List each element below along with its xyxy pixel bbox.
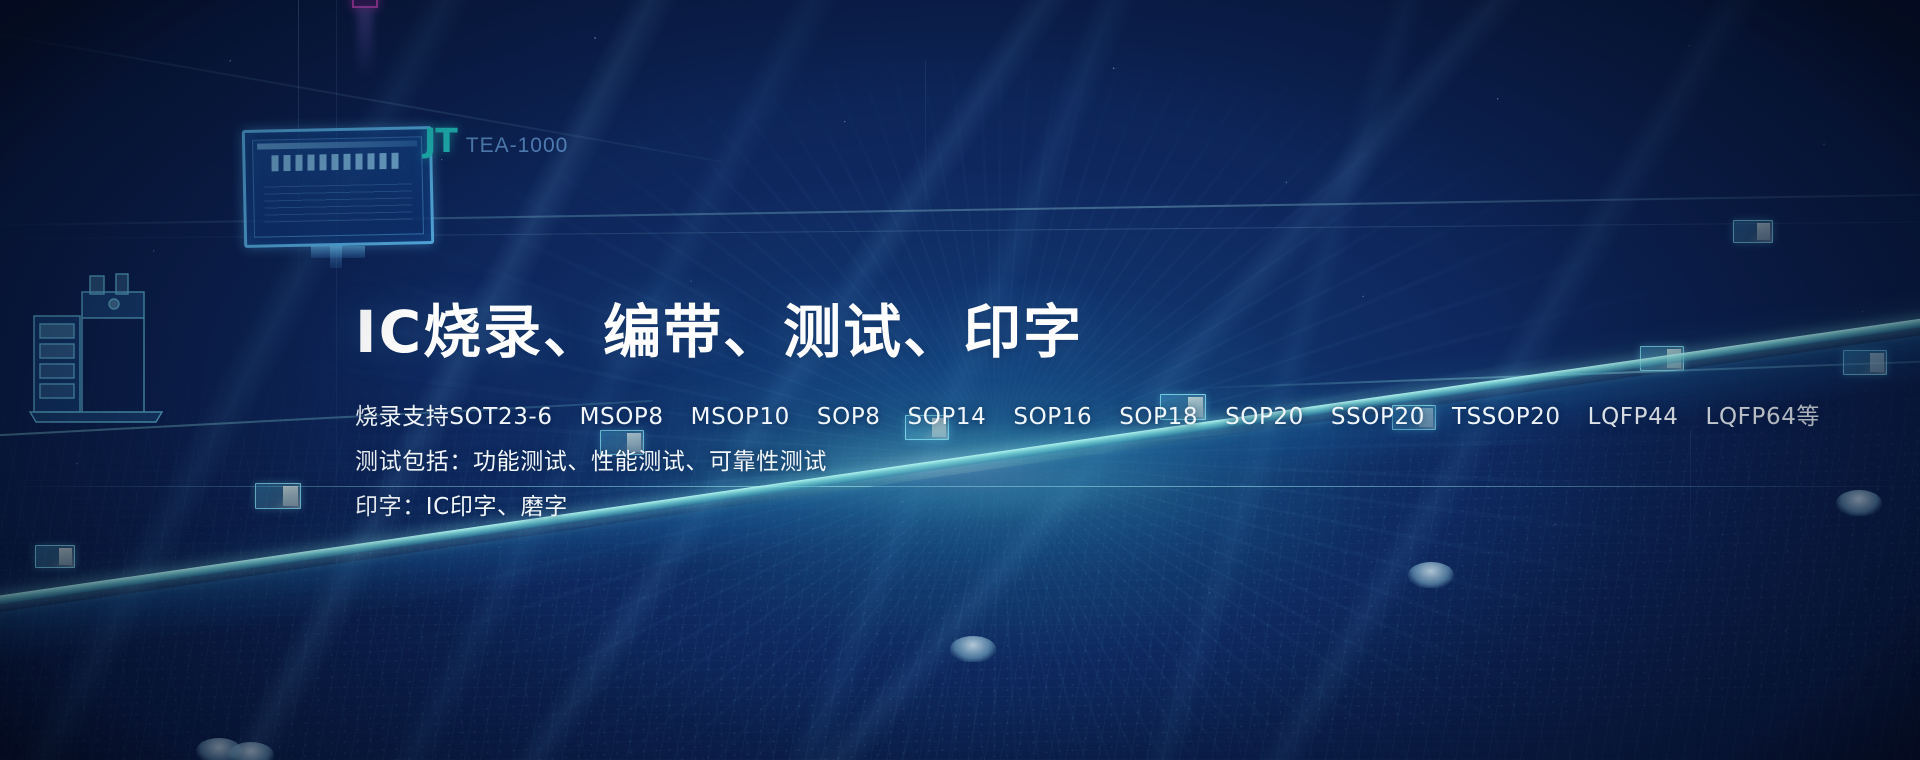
rail-support-foot-decoration (1408, 562, 1454, 588)
burn-in-prefix-label: 烧录支持 (355, 404, 449, 430)
package-sop18: SOP18 (1119, 395, 1198, 440)
monitor-data-rows-decoration (264, 179, 413, 222)
chip-tray-glyph (600, 430, 644, 455)
pillar-line-decoration (925, 60, 926, 260)
pillar-line-decoration (1690, 430, 1691, 610)
magenta-marker-glow-decoration (357, 8, 373, 78)
chip-tray-glyph (1733, 220, 1773, 243)
perspective-light-rays-decoration (0, 0, 1920, 760)
monitor-chip-cells-decoration (271, 153, 403, 172)
monitor-titlebar-decoration (257, 140, 417, 149)
particle-field-decoration (0, 0, 1920, 760)
service-detail-lines: 烧录支持SOT23-6MSOP8MSOP10SOP8SOP14SOP16SOP1… (355, 395, 1645, 530)
chip-tray-glyph (1843, 350, 1887, 375)
package-tssop20: TSSOP20 (1452, 395, 1561, 440)
handler-machine-svg (20, 270, 180, 470)
secondary-rail-decoration (0, 400, 652, 438)
dot-grid-floor-decoration (0, 304, 1920, 760)
vignette-overlay-decoration (0, 0, 1920, 760)
marking-service-line: 印字：IC印字、磨字 (355, 485, 1645, 530)
magenta-status-marker-decoration (352, 0, 378, 8)
jt-brand-mark: JT TEA-1000 (424, 121, 568, 160)
package-msop10: MSOP10 (691, 395, 790, 440)
rail-support-foot-decoration (196, 738, 242, 760)
chip-tray-glyph (35, 545, 75, 568)
upper-left-beam-decoration (0, 21, 724, 163)
chip-tray-glyph (1392, 405, 1436, 430)
package-sop8: SOP8 (817, 395, 881, 440)
package-sop14: SOP14 (908, 395, 987, 440)
chip-tray-glyph (1160, 394, 1206, 420)
package-sop20: SOP20 (1225, 395, 1304, 440)
handler-machine-illustration (20, 270, 180, 470)
testing-scope-line: 测试包括：功能测试、性能测试、可靠性测试 (355, 440, 1645, 485)
center-light-glow-decoration (580, 321, 1340, 621)
monitor-screen (252, 136, 424, 238)
chip-tray-glyph (905, 415, 949, 440)
right-rail-beam-decoration (1191, 357, 1920, 390)
page-title: IC烧录、编带、测试、印字 (355, 300, 1645, 365)
chip-tray-glyph (255, 483, 301, 509)
circuit-trace-field-decoration (0, 350, 1920, 760)
rail-support-foot-decoration (950, 636, 996, 662)
package-ssop20: SSOP20 (1331, 395, 1425, 440)
chip-tray-glyph (1640, 346, 1684, 371)
package-sot23-6: SOT23-6 (449, 395, 552, 440)
package-lqfp44: LQFP44 (1588, 395, 1679, 440)
rail-support-foot-decoration (228, 742, 274, 760)
burn-in-support-line: 烧录支持SOT23-6MSOP8MSOP10SOP8SOP14SOP16SOP1… (355, 395, 1645, 440)
conveyor-rail-shadow-decoration (0, 312, 1920, 681)
ic-service-hero-banner: JT TEA-1000 (0, 0, 1920, 760)
workstation-monitor-illustration (242, 126, 434, 248)
package-lqfp64: LQFP64等 (1706, 395, 1820, 440)
banner-text-content: IC烧录、编带、测试、印字 烧录支持SOT23-6MSOP8MSOP10SOP8… (355, 300, 1645, 529)
rail-support-foot-decoration (1836, 490, 1882, 516)
ceiling-beam-decoration (0, 193, 1920, 226)
monitor-base-decoration (311, 246, 365, 258)
package-msop8: MSOP8 (580, 395, 664, 440)
pillar-line-decoration (336, 0, 337, 640)
package-sop16: SOP16 (1013, 395, 1092, 440)
monitor-stand-decoration (330, 246, 342, 268)
conveyor-rail-decoration (0, 294, 1920, 621)
jt-logo-text: JT (424, 121, 457, 160)
machine-model-label: TEA-1000 (466, 134, 569, 158)
diagonal-light-streaks-decoration (0, 0, 1920, 760)
horizon-line-decoration (0, 486, 1920, 487)
ceiling-beam-secondary-decoration (0, 222, 1920, 240)
pillar-line-decoration (298, 0, 299, 300)
